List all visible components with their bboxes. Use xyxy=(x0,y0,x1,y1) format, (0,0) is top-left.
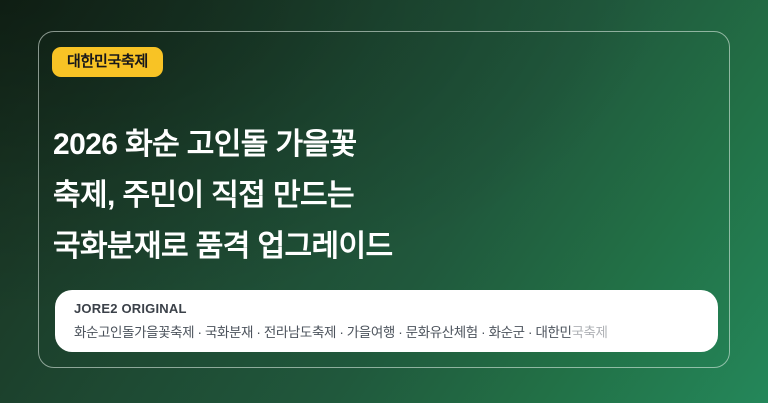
headline-line-2: 축제, 주민이 직접 만드는 xyxy=(53,170,693,221)
info-card-content: JORE2 ORIGINAL 화순고인돌가을꽃축제 · 국화분재 · 전라남도축… xyxy=(55,290,755,352)
festival-poster: 대한민국축제 2026 화순 고인돌 가을꽃 축제, 주민이 직접 만드는 국화… xyxy=(0,0,768,403)
tag-list-visible: 화순고인돌가을꽃축제 · 국화분재 · 전라남도축제 · 가을여행 · 문화유산… xyxy=(74,325,572,340)
headline-line-3: 국화분재로 품격 업그레이드 xyxy=(53,221,693,272)
brand-label: JORE2 ORIGINAL xyxy=(74,302,755,315)
category-badge: 대한민국축제 xyxy=(52,47,163,77)
tag-list: 화순고인돌가을꽃축제 · 국화분재 · 전라남도축제 · 가을여행 · 문화유산… xyxy=(74,326,755,340)
poster-content: 대한민국축제 2026 화순 고인돌 가을꽃 축제, 주민이 직접 만드는 국화… xyxy=(38,31,730,368)
headline-line-1: 2026 화순 고인돌 가을꽃 xyxy=(53,119,693,170)
tag-list-clipped: 국축제 xyxy=(572,325,608,340)
page-title: 2026 화순 고인돌 가을꽃 축제, 주민이 직접 만드는 국화분재로 품격 … xyxy=(53,119,693,272)
